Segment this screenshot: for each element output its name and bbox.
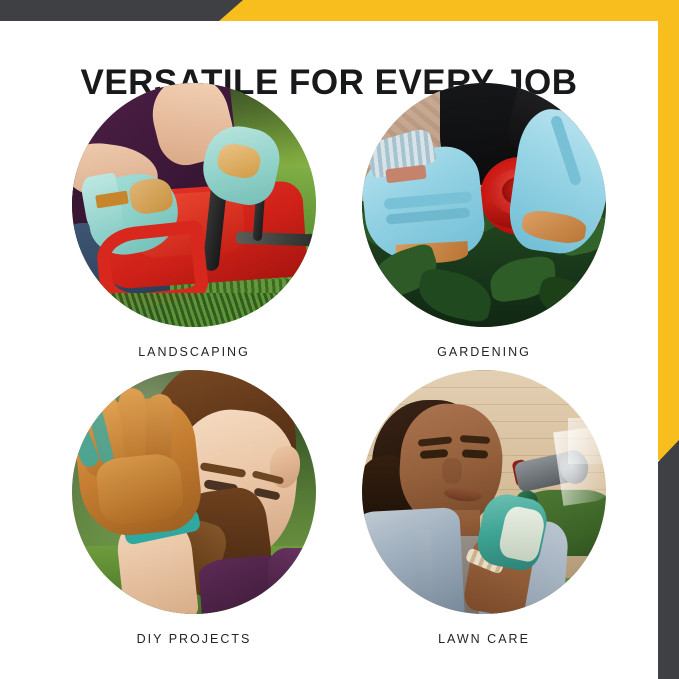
- feature-card-lawn-care: LAWN CARE: [339, 370, 629, 646]
- caption-landscaping: LANDSCAPING: [49, 345, 339, 359]
- promo-infographic: VERSATILE FOR EVERY JOB: [0, 0, 679, 679]
- feature-grid: LANDSCAPING: [0, 83, 658, 679]
- caption-lawn-care: LAWN CARE: [339, 632, 629, 646]
- caption-gardening: GARDENING: [339, 345, 629, 359]
- caption-diy-projects: DIY PROJECTS: [49, 632, 339, 646]
- photo-diy-projects: [72, 370, 316, 614]
- top-gray-band: [0, 0, 243, 21]
- right-yellow-band: [658, 0, 679, 460]
- feature-card-gardening: GARDENING: [339, 83, 629, 359]
- photo-lawn-care: [362, 370, 606, 614]
- feature-card-diy-projects: DIY PROJECTS: [49, 370, 339, 646]
- feature-card-landscaping: LANDSCAPING: [49, 83, 339, 359]
- photo-gardening: [362, 83, 606, 327]
- photo-landscaping: [72, 83, 316, 327]
- content-area: VERSATILE FOR EVERY JOB: [0, 21, 658, 679]
- right-gray-band: [658, 440, 679, 679]
